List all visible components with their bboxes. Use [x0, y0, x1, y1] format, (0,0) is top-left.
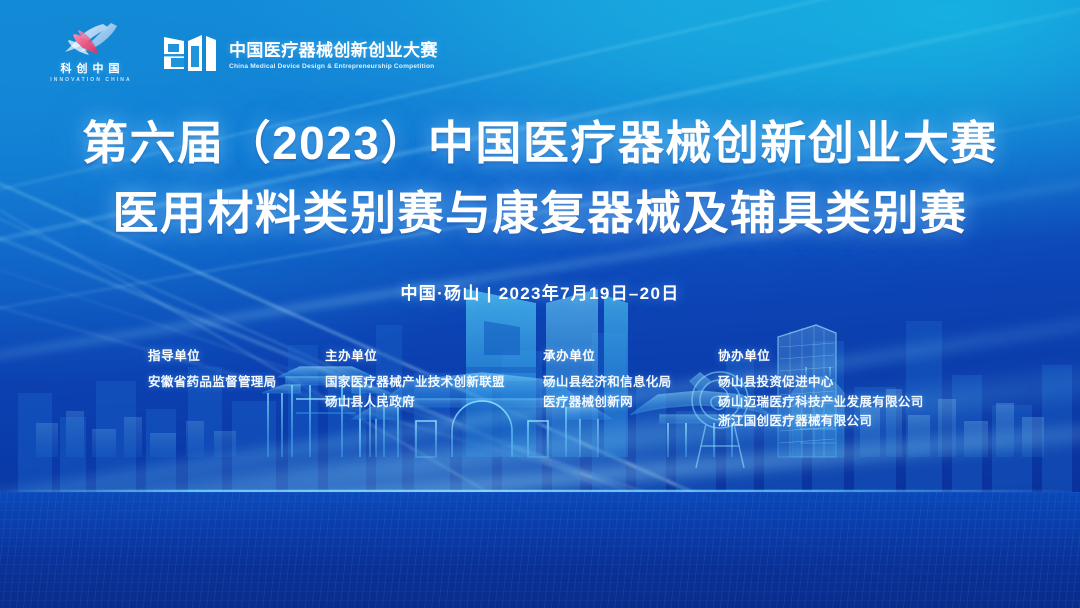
innovation-logo-cn: 科创中国: [56, 60, 125, 76]
org-item: 医疗器械创新网: [543, 393, 672, 413]
org-column-title: 协办单位: [718, 345, 924, 364]
ground-plane: [0, 492, 1080, 608]
org-column-title: 指导单位: [148, 345, 277, 364]
ground-grid: [0, 492, 1080, 608]
org-column-title: 承办单位: [543, 345, 672, 364]
event-location-date: 中国·砀山 | 2023年7月19日–20日: [0, 279, 1080, 304]
page-title: 第六届（2023）中国医疗器械创新创业大赛 医用材料类别赛与康复器械及辅具类别赛: [0, 108, 1080, 248]
header-logos: 科创中国 INNOVATION CHINA 中国医疗器械创新创业大赛: [42, 22, 438, 83]
competition-logo-en: China Medical Device Design & Entreprene…: [229, 63, 438, 70]
org-item: 砀山县人民政府: [325, 393, 505, 413]
org-column-title: 主办单位: [325, 345, 505, 364]
poster-banner: 科创中国 INNOVATION CHINA 中国医疗器械创新创业大赛: [0, 0, 1080, 608]
org-column-co-organizer: 协办单位 砀山县投资促进中心 砀山迈瑞医疗科技产业发展有限公司 浙江国创医疗器械…: [718, 345, 924, 432]
org-item: 安徽省药品监督管理局: [148, 373, 277, 393]
competition-logo-text: 中国医疗器械创新创业大赛 China Medical Device Design…: [229, 36, 438, 70]
org-column-organizer: 承办单位 砀山县经济和信息化局 医疗器械创新网: [543, 345, 672, 412]
org-item: 砀山县经济和信息化局: [543, 373, 672, 393]
competition-logo-cn: 中国医疗器械创新创业大赛: [229, 36, 438, 61]
org-item: 国家医疗器械产业技术创新联盟: [325, 373, 505, 393]
title-line-2: 医用材料类别赛与康复器械及辅具类别赛: [0, 178, 1080, 248]
org-column-guidance: 指导单位 安徽省药品监督管理局: [148, 345, 277, 393]
title-line-1: 第六届（2023）中国医疗器械创新创业大赛: [0, 108, 1080, 178]
phoenix-bird-icon: [59, 22, 121, 56]
org-item: 砀山迈瑞医疗科技产业发展有限公司: [718, 393, 924, 413]
org-item: 砀山县投资促进中心: [718, 373, 924, 393]
org-item: 浙江国创医疗器械有限公司: [718, 412, 924, 432]
innovation-logo-en: INNOVATION CHINA: [48, 77, 131, 83]
innovation-china-logo: 科创中国 INNOVATION CHINA: [42, 22, 138, 83]
org-column-host: 主办单位 国家医疗器械产业技术创新联盟 砀山县人民政府: [325, 345, 505, 412]
organizations-section: 指导单位 安徽省药品监督管理局 主办单位 国家医疗器械产业技术创新联盟 砀山县人…: [0, 345, 1080, 435]
competition-logo: 中国医疗器械创新创业大赛 China Medical Device Design…: [162, 31, 438, 75]
open-door-book-icon: [162, 31, 218, 75]
